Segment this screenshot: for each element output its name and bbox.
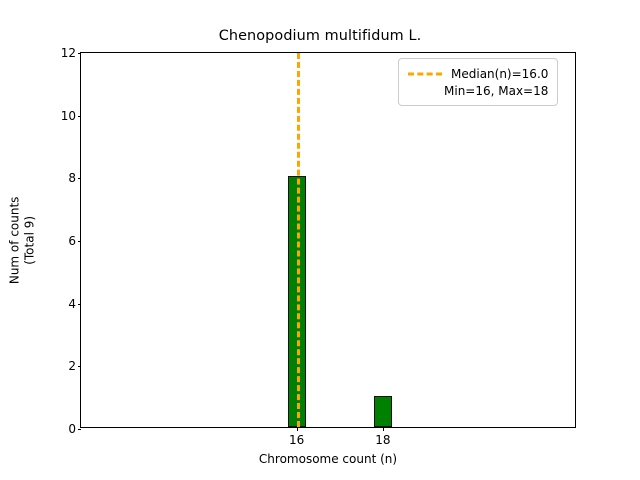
x-tick-label: 16 xyxy=(289,433,304,447)
y-tick-label: 0 xyxy=(68,422,76,436)
y-tick-mark xyxy=(78,53,82,54)
y-tick-mark xyxy=(78,241,82,242)
x-tick-mark xyxy=(383,427,384,431)
plot-area: 024681012 1618 xyxy=(80,52,576,428)
bar xyxy=(374,396,392,427)
y-axis-label-line-2: (Total 9) xyxy=(23,196,38,284)
legend-item-median: Median(n)=16.0 xyxy=(408,65,548,82)
median-line xyxy=(297,53,300,427)
y-tick-label: 10 xyxy=(61,109,76,123)
chart-title: Chenopodium multifidum L. xyxy=(0,28,640,44)
y-axis-label-line-1: Num of counts xyxy=(8,196,23,284)
y-tick-mark xyxy=(78,429,82,430)
legend-label-median: Median(n)=16.0 xyxy=(451,67,548,81)
legend-item-minmax: Min=16, Max=18 xyxy=(408,82,548,99)
y-tick-label: 12 xyxy=(61,46,76,60)
y-tick-label: 6 xyxy=(68,234,76,248)
dashed-line-icon xyxy=(408,67,442,81)
x-tick-label: 18 xyxy=(375,433,390,447)
plot-inner xyxy=(81,53,575,427)
y-tick-label: 2 xyxy=(68,359,76,373)
x-tick-mark xyxy=(297,427,298,431)
y-tick-mark xyxy=(78,304,82,305)
chart-legend: Median(n)=16.0 Min=16, Max=18 xyxy=(398,58,558,106)
legend-label-minmax: Min=16, Max=18 xyxy=(444,84,548,98)
y-tick-label: 8 xyxy=(68,171,76,185)
y-tick-mark xyxy=(78,178,82,179)
y-axis-label: Num of counts (Total 9) xyxy=(0,52,46,428)
chart-figure: Chenopodium multifidum L. Num of counts … xyxy=(0,0,640,480)
x-axis-label: Chromosome count (n) xyxy=(80,452,576,466)
y-tick-mark xyxy=(78,116,82,117)
y-tick-label: 4 xyxy=(68,297,76,311)
y-tick-mark xyxy=(78,366,82,367)
